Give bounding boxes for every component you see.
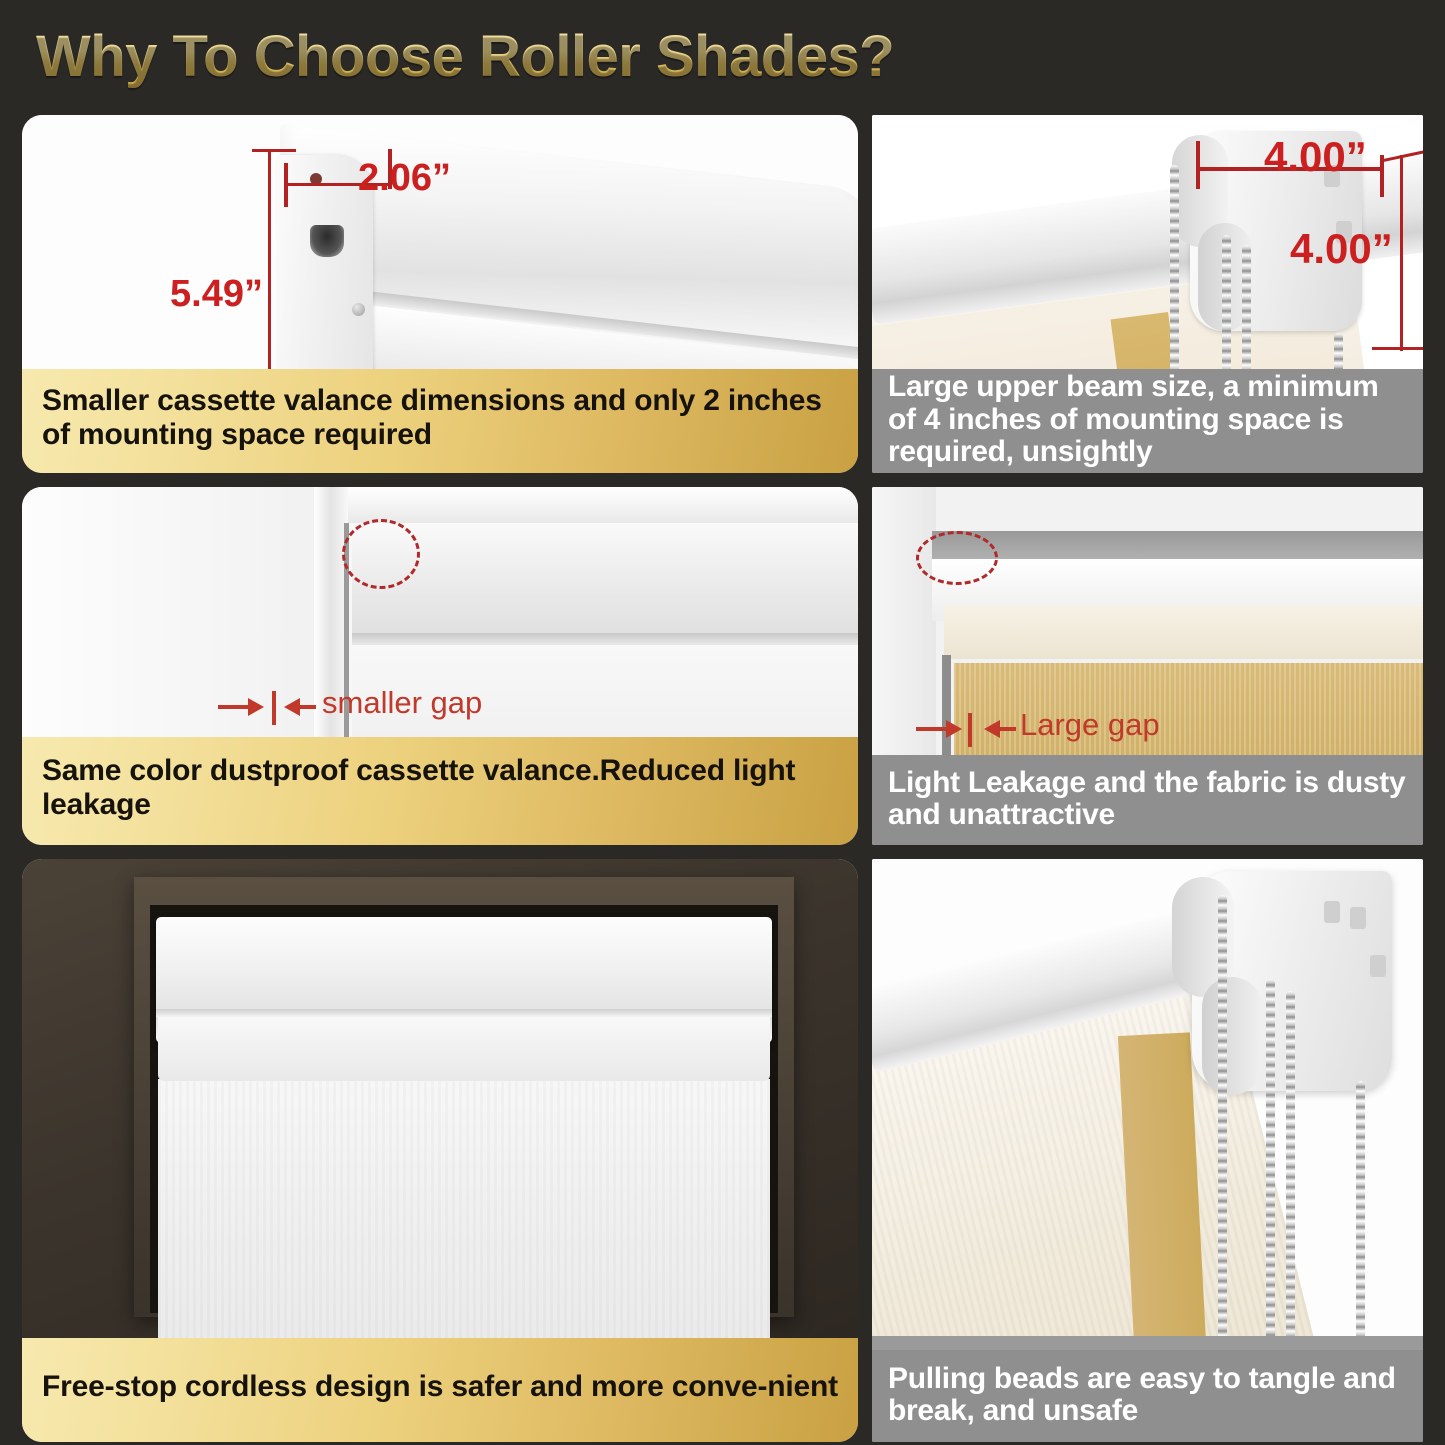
beam-height-label: 4.00” xyxy=(1290,225,1393,273)
floor-shadow-band xyxy=(872,1336,1423,1350)
bead-chain-3 xyxy=(1286,991,1295,1350)
panel-middle-left-caption-text: Same color dustproof cassette valance.Re… xyxy=(42,754,838,822)
wall-surface xyxy=(22,487,322,737)
bracket-screw-icon xyxy=(352,303,365,316)
bracket-slot-b-icon xyxy=(1350,907,1366,929)
panel-bottom-right-caption: Pulling beads are easy to tangle and bre… xyxy=(872,1350,1423,1442)
gap-arrow-left-tail xyxy=(218,705,250,709)
height-dim-tick-top xyxy=(252,149,296,152)
panel-top-right-image: 4.00” 4.00” xyxy=(872,115,1423,383)
panel-top-right-caption-text: Large upper beam size, a minimum of 4 in… xyxy=(888,371,1407,468)
comparison-grid: 2.06” 5.49” Smaller cassette valance dim… xyxy=(0,112,1445,1445)
window-small-gap-illustration: smaller gap xyxy=(22,487,858,737)
bead-chain-roller-illustration xyxy=(872,859,1423,1350)
gap-arrow-left-tail xyxy=(916,727,948,731)
bead-chain-2 xyxy=(1222,235,1231,383)
panel-middle-left-image: smaller gap xyxy=(22,487,858,737)
panel-bottom-left-image xyxy=(22,859,858,1339)
page-header: Why To Choose Roller Shades? xyxy=(0,0,1445,112)
page-title: Why To Choose Roller Shades? xyxy=(36,23,894,90)
gap-tick-mark xyxy=(272,691,276,725)
panel-middle-right-caption: Light Leakage and the fabric is dusty an… xyxy=(872,755,1423,845)
bead-chain-4 xyxy=(1356,1081,1365,1350)
height-dimension-label: 5.49” xyxy=(170,273,263,316)
panel-top-left-caption-text: Smaller cassette valance dimensions and … xyxy=(42,384,838,452)
beam-height-tick-bottom xyxy=(1372,347,1423,350)
shade-cream-band xyxy=(944,605,1423,659)
gap-highlight-circle-icon xyxy=(916,531,998,585)
panel-middle-right-image: Large gap xyxy=(872,487,1423,755)
panel-bottom-left-caption: Free-stop cordless design is safer and m… xyxy=(22,1338,858,1442)
beam-height-line xyxy=(1400,155,1403,351)
bracket-slot-upper-icon xyxy=(310,225,344,257)
valance-groove xyxy=(156,1009,772,1017)
panel-middle-left: smaller gap Same color dustproof cassett… xyxy=(22,487,858,845)
bracket-slot-c-icon xyxy=(1370,955,1386,977)
valance-lower-lip xyxy=(158,1017,770,1081)
width-dimension-label: 2.06” xyxy=(358,157,451,200)
panel-top-right: 4.00” 4.00” Large upper beam size, a min… xyxy=(872,115,1423,473)
cassette-valance-illustration: 2.06” 5.49” xyxy=(22,115,858,387)
large-beam-roller-illustration: 4.00” 4.00” xyxy=(872,115,1423,383)
panel-bottom-left-caption-text: Free-stop cordless design is safer and m… xyxy=(42,1370,838,1404)
panel-middle-left-caption: Same color dustproof cassette valance.Re… xyxy=(22,737,858,845)
bead-chain-3 xyxy=(1242,245,1251,383)
gap-arrow-right-head-icon xyxy=(284,698,300,716)
cordless-shade-room-scene xyxy=(22,859,858,1339)
shade-side-gap xyxy=(942,655,951,755)
roll-end-cap-lower xyxy=(1202,977,1262,1095)
beam-width-label: 4.00” xyxy=(1264,133,1367,181)
roller-shade-fabric xyxy=(158,1079,770,1339)
bracket-slot-a-icon xyxy=(1324,901,1340,923)
gap-arrow-right-tail xyxy=(300,705,316,709)
window-head-casing xyxy=(314,487,858,523)
height-dim-line xyxy=(268,149,271,387)
gap-arrow-left-head-icon xyxy=(946,720,962,738)
panel-top-left-image: 2.06” 5.49” xyxy=(22,115,858,387)
panel-bottom-right-image xyxy=(872,859,1423,1350)
wall-surface xyxy=(872,487,936,755)
bead-chain-2 xyxy=(1266,979,1275,1350)
panel-bottom-right-caption-text: Pulling beads are easy to tangle and bre… xyxy=(888,1363,1407,1428)
panel-top-left: 2.06” 5.49” Smaller cassette valance dim… xyxy=(22,115,858,473)
gap-highlight-circle-icon xyxy=(342,519,420,589)
panel-top-left-caption: Smaller cassette valance dimensions and … xyxy=(22,369,858,473)
gap-tick-mark xyxy=(968,713,972,747)
smaller-gap-label: smaller gap xyxy=(322,685,482,721)
gap-arrow-right-head-icon xyxy=(984,720,1000,738)
large-gap-label: Large gap xyxy=(1020,707,1160,743)
panel-bottom-left: Free-stop cordless design is safer and m… xyxy=(22,859,858,1442)
window-large-gap-illustration: Large gap xyxy=(872,487,1423,755)
bead-chain-1 xyxy=(1170,165,1179,383)
panel-middle-right-caption-text: Light Leakage and the fabric is dusty an… xyxy=(888,767,1407,832)
gap-arrow-left-head-icon xyxy=(248,698,264,716)
panel-bottom-right: Pulling beads are easy to tangle and bre… xyxy=(872,859,1423,1442)
panel-top-right-caption: Large upper beam size, a minimum of 4 in… xyxy=(872,369,1423,473)
beam-width-tick-left xyxy=(1196,141,1200,189)
gap-arrow-right-tail xyxy=(1000,727,1016,731)
bead-chain-1 xyxy=(1218,895,1227,1350)
panel-middle-right: Large gap Light Leakage and the fabric i… xyxy=(872,487,1423,845)
shade-upper-section xyxy=(352,523,858,635)
